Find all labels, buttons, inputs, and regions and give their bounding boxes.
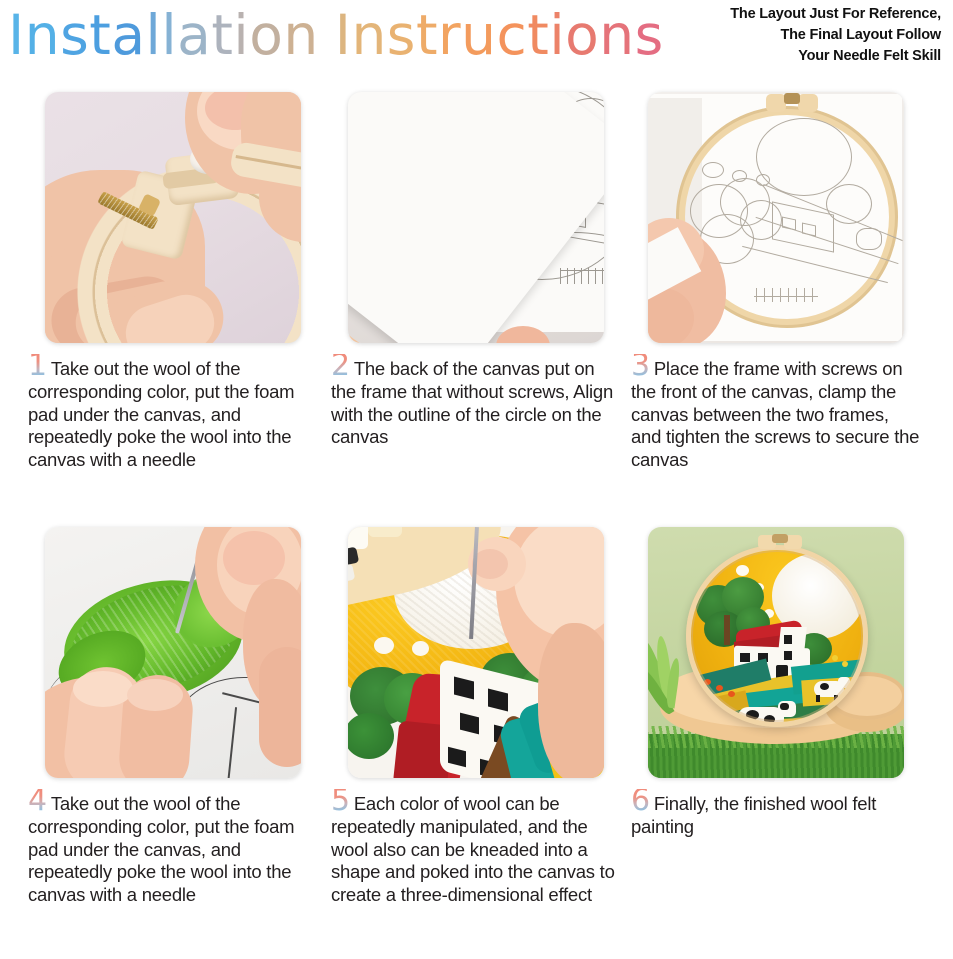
title-letter: t [89,2,111,68]
title-letter: n [25,2,60,68]
step-number-4: 4 [28,789,47,813]
title-letter: n [599,2,634,68]
photo-felting-in-progress-closeup [348,527,604,778]
step-caption-3: 3 Place the frame with screws on the fro… [625,358,920,472]
title-letter: a [111,2,145,68]
step-text-3: Place the frame with screws on the front… [631,358,920,472]
step-text-4: Take out the wool of the corresponding c… [28,793,317,907]
photo-hoop-clamped-with-sketch [648,92,904,343]
step-card-6: 6 Finally, the finished wool felt painti… [625,527,925,839]
note-line-3: Your Needle Felt Skill [711,46,941,67]
note-line-2: The Final Layout Follow [711,25,941,46]
instruction-row-2: 4 Take out the wool of the corresponding… [0,527,953,957]
instruction-grid: 1 Take out the wool of the corresponding… [0,92,953,957]
step-caption-1: 1 Take out the wool of the corresponding… [22,358,317,472]
note-line-1: The Layout Just For Reference, [711,4,941,25]
title-letter: o [249,2,283,68]
step-caption-6: 6 Finally, the finished wool felt painti… [625,793,920,839]
step-card-3: 3 Place the frame with screws on the fro… [625,92,925,472]
step-number-5: 5 [331,789,350,813]
step-card-1: 1 Take out the wool of the corresponding… [22,92,322,472]
title-letter: I [8,2,25,68]
step-number-2: 2 [331,354,350,378]
title-letter: a [177,2,211,68]
step-card-2: 2 The back of the canvas put on the fram… [325,92,625,449]
title-letter: u [461,2,496,68]
photo-green-wool-on-canvas [45,527,301,778]
step-text-1: Take out the wool of the corresponding c… [28,358,317,472]
title-letter: i [549,2,565,68]
title-letter: s [635,2,664,68]
step-caption-4: 4 Take out the wool of the corresponding… [22,793,317,907]
step-text-2: The back of the canvas put on the frame … [331,358,620,449]
title-letter: s [60,2,89,68]
title-letter [319,2,335,68]
title-letter: o [565,2,599,68]
title-letter: c [497,2,528,68]
step-text-5: Each color of wool can be repeatedly man… [331,793,620,907]
photo-hands-holding-hoop-with-screw [45,92,301,343]
title-letter: t [211,2,233,68]
page-header: Installation Instructions The Layout Jus… [0,0,953,92]
title-letter: l [161,2,177,68]
title-letter: t [527,2,549,68]
step-number-3: 3 [631,354,650,378]
step-number-6: 6 [631,789,650,813]
step-card-5: 5 Each color of wool can be repeatedly m… [325,527,625,907]
step-number-1: 1 [28,354,47,378]
photo-finished-wool-felt-painting [648,527,904,778]
title-letter: n [283,2,318,68]
step-caption-5: 5 Each color of wool can be repeatedly m… [325,793,620,907]
title-letter: I [335,2,352,68]
title-letter: i [233,2,249,68]
header-disclaimer-note: The Layout Just For Reference, The Final… [711,4,941,67]
step-card-4: 4 Take out the wool of the corresponding… [22,527,322,907]
title-letter: s [387,2,416,68]
title-letter: r [438,2,461,68]
title-letter: n [351,2,386,68]
step-text-6: Finally, the finished wool felt painting [631,793,920,839]
title-letter: l [146,2,162,68]
photo-canvas-back-over-inner-hoop [348,92,604,343]
step-caption-2: 2 The back of the canvas put on the fram… [325,358,620,449]
page-title: Installation Instructions [8,2,664,68]
title-letter: t [416,2,438,68]
instruction-row-1: 1 Take out the wool of the corresponding… [0,92,953,525]
